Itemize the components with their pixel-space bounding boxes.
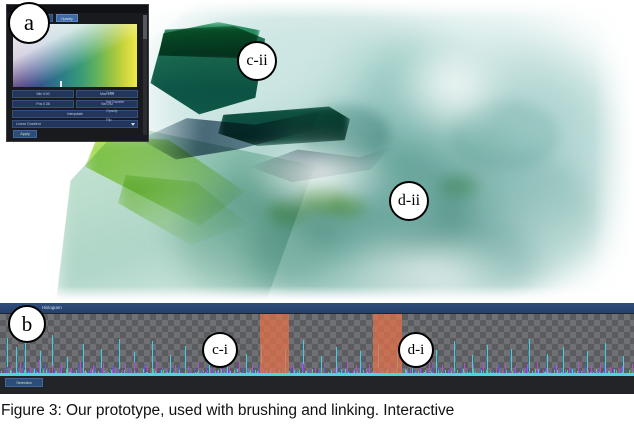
side-label-opacity: Opacity	[106, 108, 148, 115]
apply-button[interactable]: Apply	[13, 130, 37, 138]
scrollbar-thumb[interactable]	[143, 15, 147, 39]
brush-c-i[interactable]	[260, 314, 289, 376]
volume-accent-green	[440, 175, 478, 197]
volume-highlight	[245, 135, 395, 215]
side-label-set-transfer: Set Transfer	[106, 99, 148, 106]
tab-opacity[interactable]: Opacity	[56, 14, 78, 22]
field-pos[interactable]: Pos 0.38	[12, 100, 74, 108]
histogram-titlebar[interactable]	[0, 303, 634, 313]
selection-button[interactable]: Selection	[5, 378, 43, 387]
callout-label-b: b	[8, 305, 46, 343]
callout-label-c-i: c-i	[202, 332, 238, 368]
histogram-panel[interactable]: Histogram Selection	[0, 303, 634, 394]
callout-label-d-i: d-i	[398, 332, 434, 368]
histogram-title: Histogram	[42, 304, 62, 312]
callout-label-c-ii: c-ii	[237, 41, 277, 81]
figure-caption: Figure 3: Our prototype, used with brush…	[0, 396, 634, 426]
side-label-flip: Flip	[106, 117, 148, 124]
figure-image: Color Opacity Min 0.00 Max 1.00 Pos 0.38…	[0, 0, 634, 394]
interpolation-select-value: Linear Gradient	[16, 122, 41, 126]
side-label-color: Color	[106, 90, 148, 97]
callout-label-a: a	[8, 2, 50, 44]
volume-highlight	[390, 30, 520, 140]
callout-label-d-ii: d-ii	[389, 181, 429, 221]
volume-highlight	[330, 230, 510, 300]
panel-scrollbar[interactable]	[143, 15, 147, 135]
histogram-footer: Selection	[0, 376, 634, 394]
opacity-control-handle[interactable]	[60, 81, 62, 87]
histogram-plot[interactable]	[0, 314, 634, 376]
tf-side-labels: Color Set Transfer Opacity Flip	[106, 90, 148, 128]
histogram-bar	[529, 339, 530, 376]
field-min[interactable]: Min 0.00	[12, 90, 74, 98]
